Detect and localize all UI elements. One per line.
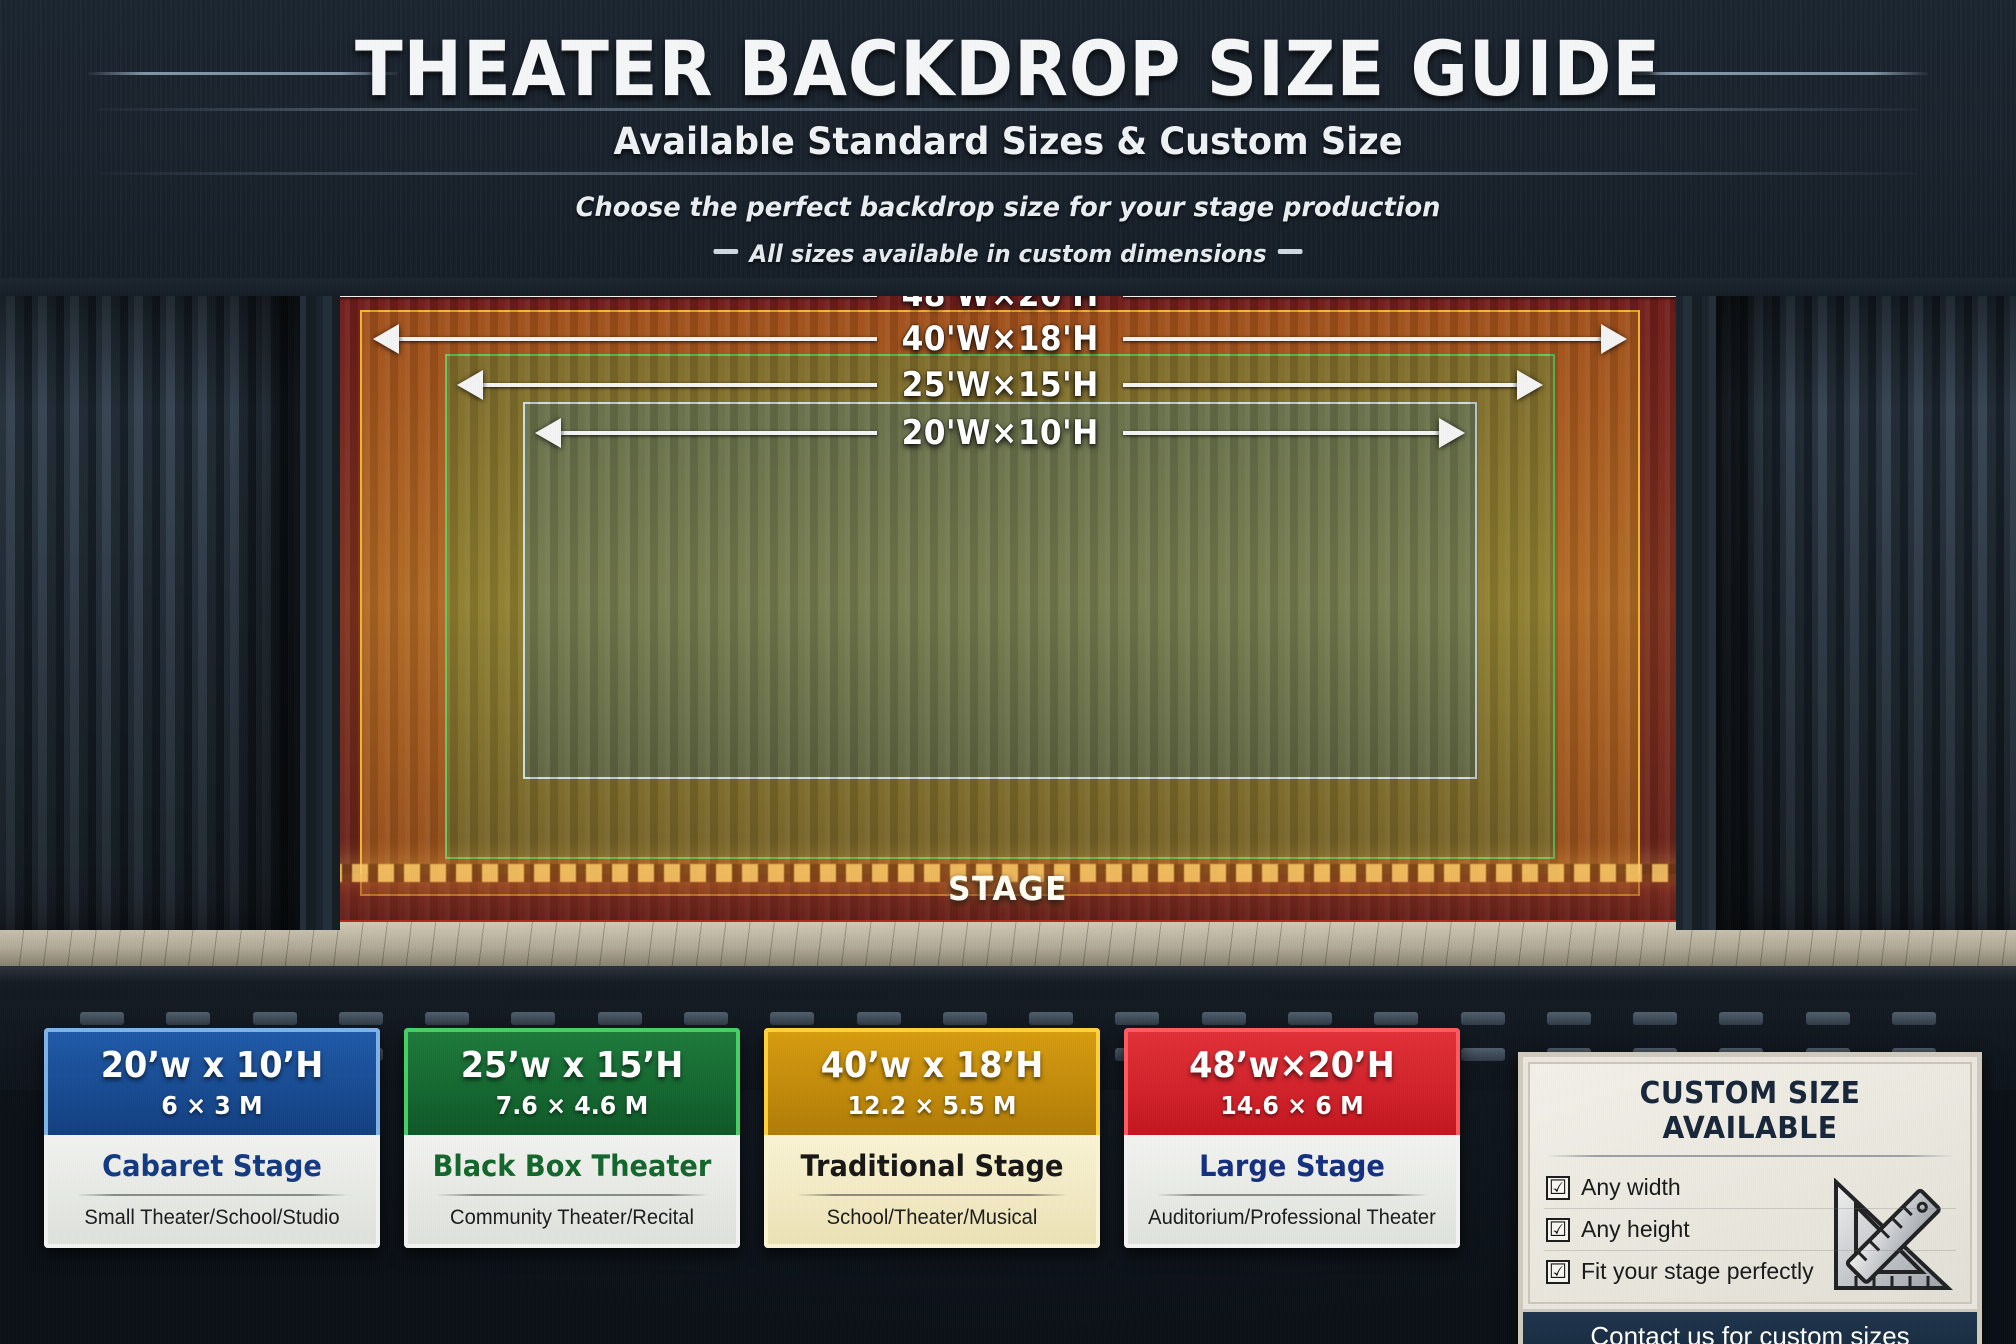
poster-root: THEATER BACKDROP SIZE GUIDE Available St… <box>0 0 2016 1344</box>
seat <box>1202 1012 1246 1025</box>
note-dash-left <box>713 249 738 254</box>
custom-feature-any-height: ☑ Any height <box>1544 1208 1956 1250</box>
card-title: Cabaret Stage <box>67 1149 357 1183</box>
card-metric-label: 7.6 × 4.6 M <box>424 1091 720 1120</box>
size-card-large-stage[interactable]: 48’w×20’H 14.6 × 6 M Large Stage Auditor… <box>1124 1028 1460 1248</box>
seat <box>857 1012 901 1025</box>
card-divider <box>1156 1194 1428 1196</box>
card-title: Black Box Theater <box>427 1149 717 1183</box>
custom-panel-inner: CUSTOM SIZE AVAILABLE <box>1528 1062 1972 1304</box>
card-size-label: 25’w x 15’H <box>427 1045 717 1086</box>
card-size-label: 20’w x 10’H <box>67 1045 357 1086</box>
page-tagline: Choose the perfect backdrop size for you… <box>50 192 1965 223</box>
seat <box>1374 1012 1418 1025</box>
custom-panel-title: CUSTOM SIZE AVAILABLE <box>1556 1076 1943 1146</box>
seat <box>1029 1012 1073 1025</box>
card-title: Traditional Stage <box>787 1149 1077 1183</box>
card-use-case: Auditorium/Professional Theater <box>1144 1206 1440 1230</box>
card-body: Large Stage Auditorium/Professional Thea… <box>1124 1135 1460 1248</box>
seat <box>1547 1012 1591 1025</box>
size-card-black-box-theater[interactable]: 25’w x 15’H 7.6 × 4.6 M Black Box Theate… <box>404 1028 740 1248</box>
seat <box>1892 1012 1936 1025</box>
custom-dimensions-note: All sizes available in custom dimensions <box>50 240 1965 268</box>
custom-note-text: All sizes available in custom dimensions <box>749 240 1266 268</box>
seat <box>511 1012 555 1025</box>
custom-feature-label: Fit your stage perfectly <box>1581 1258 1814 1285</box>
card-divider <box>796 1194 1068 1196</box>
card-use-case: Community Theater/Recital <box>424 1206 720 1230</box>
theater-stage-illustration: 48'W×20'H 40'W×18'H 25'W×15'H <box>0 262 2016 982</box>
custom-size-panel[interactable]: CUSTOM SIZE AVAILABLE <box>1518 1052 1982 1344</box>
seat <box>943 1012 987 1025</box>
custom-panel-rule <box>1546 1155 1954 1157</box>
seat <box>1461 1012 1505 1025</box>
seat <box>1115 1012 1159 1025</box>
seat <box>80 1012 124 1025</box>
note-dash-right <box>1278 249 1303 254</box>
stage-apron <box>0 966 2016 982</box>
seat <box>166 1012 210 1025</box>
custom-feature-any-width: ☑ Any width <box>1544 1167 1956 1208</box>
size-rect-20x10 <box>523 402 1477 779</box>
card-header: 25’w x 15’H 7.6 × 4.6 M <box>404 1028 740 1135</box>
checkbox-checked-icon: ☑ <box>1546 1176 1570 1200</box>
seat <box>253 1012 297 1025</box>
card-body: Traditional Stage School/Theater/Musical <box>764 1135 1100 1248</box>
poster-header: THEATER BACKDROP SIZE GUIDE Available St… <box>0 0 2016 278</box>
seat <box>425 1012 469 1025</box>
seat <box>1806 1012 1850 1025</box>
card-body: Black Box Theater Community Theater/Reci… <box>404 1135 740 1248</box>
custom-feature-fit-stage: ☑ Fit your stage perfectly <box>1544 1250 1956 1292</box>
seat <box>339 1012 383 1025</box>
card-use-case: Small Theater/School/Studio <box>64 1206 360 1230</box>
seat <box>1719 1012 1763 1025</box>
card-header: 20’w x 10’H 6 × 3 M <box>44 1028 380 1135</box>
contact-cta[interactable]: Contact us for custom sizes <box>1523 1309 1977 1344</box>
seat <box>770 1012 814 1025</box>
page-title: THEATER BACKDROP SIZE GUIDE <box>81 24 1936 113</box>
custom-feature-label: Any height <box>1581 1216 1690 1243</box>
seat <box>598 1012 642 1025</box>
header-rule-lower <box>98 172 1918 175</box>
card-use-case: School/Theater/Musical <box>784 1206 1080 1230</box>
backdrop-size-overlay: 48'W×20'H 40'W×18'H 25'W×15'H <box>285 262 1715 934</box>
card-metric-label: 14.6 × 6 M <box>1144 1091 1440 1120</box>
card-divider <box>436 1194 708 1196</box>
checkbox-checked-icon: ☑ <box>1546 1218 1570 1242</box>
seat <box>1288 1012 1332 1025</box>
card-size-label: 40’w x 18’H <box>787 1045 1077 1086</box>
seat <box>1461 1048 1505 1061</box>
card-body: Cabaret Stage Small Theater/School/Studi… <box>44 1135 380 1248</box>
card-header: 48’w×20’H 14.6 × 6 M <box>1124 1028 1460 1135</box>
page-subtitle: Available Standard Sizes & Custom Size <box>50 120 1965 163</box>
seat <box>684 1012 728 1025</box>
card-divider <box>76 1194 348 1196</box>
card-metric-label: 12.2 × 5.5 M <box>784 1091 1080 1120</box>
card-size-label: 48’w×20’H <box>1147 1045 1437 1086</box>
custom-feature-label: Any width <box>1581 1174 1681 1201</box>
custom-feature-list: ☑ Any width ☑ Any height ☑ Fit your stag… <box>1544 1167 1956 1292</box>
seat-row-front <box>80 1012 1936 1025</box>
card-title: Large Stage <box>1147 1149 1437 1183</box>
size-card-traditional-stage[interactable]: 40’w x 18’H 12.2 × 5.5 M Traditional Sta… <box>764 1028 1100 1248</box>
card-header: 40’w x 18’H 12.2 × 5.5 M <box>764 1028 1100 1135</box>
card-metric-label: 6 × 3 M <box>64 1091 360 1120</box>
size-card-list: 20’w x 10’H 6 × 3 M Cabaret Stage Small … <box>44 1028 1460 1248</box>
size-card-cabaret-stage[interactable]: 20’w x 10’H 6 × 3 M Cabaret Stage Small … <box>44 1028 380 1248</box>
checkbox-checked-icon: ☑ <box>1546 1260 1570 1284</box>
stage-curtain-right <box>1716 262 2016 930</box>
seat <box>1633 1012 1677 1025</box>
stage-curtain-left <box>0 262 300 930</box>
